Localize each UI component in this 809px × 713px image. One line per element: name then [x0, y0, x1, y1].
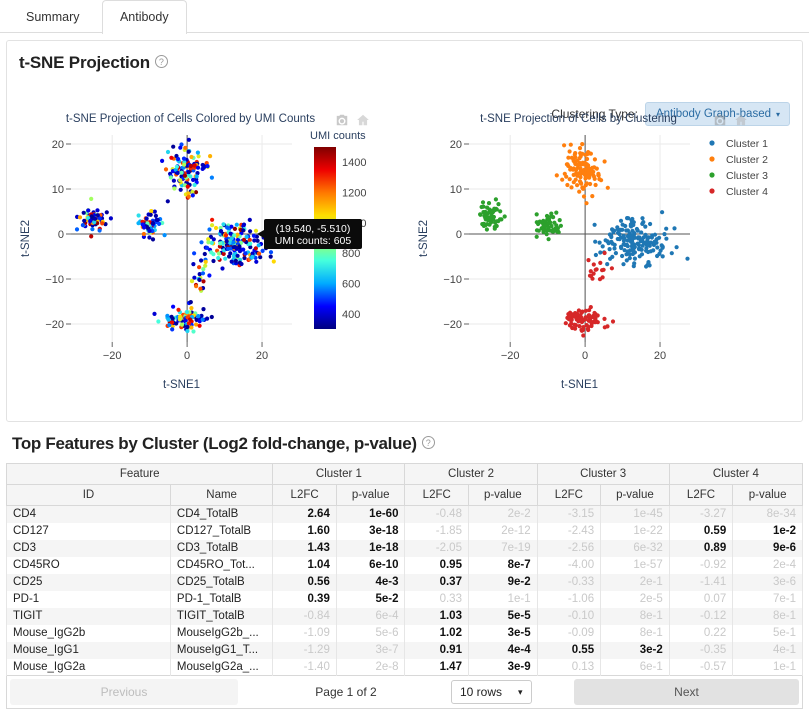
cell-id: Mouse_IgG2a [7, 659, 171, 676]
table-row: Mouse_IgG2aMouseIgG2a_...-1.402e-81.473e… [7, 659, 803, 676]
cell-c1-l2fc: -1.29 [273, 642, 337, 659]
cell-c4-l2fc: -0.35 [669, 642, 733, 659]
cell-c2-l2fc: 0.33 [405, 591, 469, 608]
rows-per-page-value: 10 rows [460, 685, 502, 699]
cell-c3-l2fc: 0.13 [537, 659, 601, 676]
cell-name: PD-1_TotalB [170, 591, 272, 608]
svg-text:20: 20 [450, 139, 462, 151]
cell-c1-pvalue: 1e-18 [336, 540, 405, 557]
help-circle-icon[interactable]: ? [155, 55, 168, 68]
cell-c3-l2fc: -4.00 [537, 557, 601, 574]
cell-id: CD25 [7, 574, 171, 591]
svg-text:t-SNE1: t-SNE1 [561, 379, 598, 391]
svg-text:0: 0 [582, 350, 588, 362]
cell-c1-pvalue: 3e-7 [336, 642, 405, 659]
svg-text:1200: 1200 [342, 188, 366, 200]
legend-marker [709, 188, 714, 193]
cell-c2-pvalue: 2e-12 [468, 523, 537, 540]
cell-c4-pvalue: 7e-1 [733, 591, 803, 608]
cell-c1-l2fc: 2.64 [273, 506, 337, 523]
tsne-umi-plot[interactable]: t-SNE Projection of Cells Colored by UMI… [13, 107, 408, 402]
table-row: TIGITTIGIT_TotalB-0.846e-41.035e-5-0.108… [7, 608, 803, 625]
cell-c4-pvalue: 3e-6 [733, 574, 803, 591]
cell-c4-l2fc: -0.12 [669, 608, 733, 625]
cell-c2-pvalue: 7e-19 [468, 540, 537, 557]
cell-c3-pvalue: 1e-45 [601, 506, 670, 523]
cell-c3-l2fc: -0.09 [537, 625, 601, 642]
cell-c2-pvalue: 9e-2 [468, 574, 537, 591]
table-row: Mouse_IgG2bMouseIgG2b_...-1.095e-61.023e… [7, 625, 803, 642]
svg-text:UMI counts: 605: UMI counts: 605 [275, 235, 352, 247]
svg-text:(19.540, -5.510): (19.540, -5.510) [276, 223, 351, 235]
cell-c4-pvalue: 1e-2 [733, 523, 803, 540]
cell-c1-l2fc: 0.39 [273, 591, 337, 608]
cell-c1-pvalue: 6e-4 [336, 608, 405, 625]
col-header-c4-pvalue[interactable]: p-value [733, 485, 803, 506]
cell-c1-l2fc: -0.84 [273, 608, 337, 625]
cell-c3-pvalue: 1e-57 [601, 557, 670, 574]
tab-antibody[interactable]: Antibody [102, 0, 187, 34]
tab-bar: Summary Antibody [0, 0, 809, 33]
cell-c1-pvalue: 1e-60 [336, 506, 405, 523]
cell-id: TIGIT [7, 608, 171, 625]
table-pager: Previous Page 1 of 2 10 rows ▾ Next [6, 676, 803, 709]
top-features-table: Feature Cluster 1 Cluster 2 Cluster 3 Cl… [6, 463, 803, 676]
cell-c4-l2fc: 0.89 [669, 540, 733, 557]
rows-per-page-select[interactable]: 10 rows ▾ [451, 680, 532, 704]
group-header-cluster-3: Cluster 3 [537, 464, 669, 485]
cell-c1-pvalue: 3e-18 [336, 523, 405, 540]
help-circle-icon[interactable]: ? [422, 436, 435, 449]
legend-marker [709, 172, 714, 177]
tsne-title-row: t-SNE Projection? [7, 41, 802, 73]
table-sub-header-row: ID Name L2FC p-value L2FC p-value L2FC p… [7, 485, 803, 506]
col-header-c2-l2fc[interactable]: L2FC [405, 485, 469, 506]
cell-c3-pvalue: 2e-5 [601, 591, 670, 608]
point-tooltip: (19.540, -5.510)UMI counts: 605 [257, 219, 362, 249]
table-body: CD4CD4_TotalB2.641e-60-0.482e-2-3.151e-4… [7, 506, 803, 676]
cell-c4-l2fc: 0.07 [669, 591, 733, 608]
tsne-card: t-SNE Projection? Clustering Type: Antib… [6, 40, 803, 422]
svg-text:10: 10 [450, 184, 462, 196]
cell-c4-l2fc: 0.59 [669, 523, 733, 540]
cell-name: CD127_TotalB [170, 523, 272, 540]
svg-text:400: 400 [342, 309, 360, 321]
cell-c4-l2fc: -0.57 [669, 659, 733, 676]
cell-c1-l2fc: 1.43 [273, 540, 337, 557]
tsne-cluster-plot[interactable]: t-SNE Projection of Cells by Clustering … [411, 107, 806, 402]
svg-text:−20: −20 [443, 319, 462, 331]
top-features-section: Top Features by Cluster (Log2 fold-chang… [6, 432, 803, 709]
svg-text:20: 20 [52, 139, 64, 151]
cell-c3-pvalue: 6e-32 [601, 540, 670, 557]
cell-id: Mouse_IgG1 [7, 642, 171, 659]
cell-c2-pvalue: 5e-5 [468, 608, 537, 625]
cell-c3-pvalue: 6e-1 [601, 659, 670, 676]
table-row: Mouse_IgG1MouseIgG1_T...-1.293e-70.914e-… [7, 642, 803, 659]
cell-c2-pvalue: 3e-9 [468, 659, 537, 676]
legend-label: Cluster 3 [726, 170, 768, 182]
cell-name: CD25_TotalB [170, 574, 272, 591]
top-features-title: Top Features by Cluster (Log2 fold-chang… [6, 432, 417, 463]
cell-c3-l2fc: -2.56 [537, 540, 601, 557]
cell-c1-pvalue: 4e-3 [336, 574, 405, 591]
col-header-c2-pvalue[interactable]: p-value [468, 485, 537, 506]
chevron-down-icon: ▾ [518, 687, 523, 698]
svg-text:−20: −20 [501, 350, 520, 362]
cell-id: CD45RO [7, 557, 171, 574]
cell-c2-pvalue: 3e-5 [468, 625, 537, 642]
svg-text:20: 20 [654, 350, 666, 362]
cell-c4-pvalue: 5e-1 [733, 625, 803, 642]
col-header-c1-pvalue[interactable]: p-value [336, 485, 405, 506]
cell-c3-pvalue: 8e-1 [601, 625, 670, 642]
cell-id: CD3 [7, 540, 171, 557]
svg-text:−20: −20 [103, 350, 122, 362]
cell-c3-l2fc: -1.06 [537, 591, 601, 608]
table-row: CD3CD3_TotalB1.431e-18-2.057e-19-2.566e-… [7, 540, 803, 557]
legend-marker [709, 140, 714, 145]
cell-c2-l2fc: -0.48 [405, 506, 469, 523]
svg-text:−20: −20 [45, 319, 64, 331]
cell-id: Mouse_IgG2b [7, 625, 171, 642]
svg-text:1400: 1400 [342, 157, 366, 169]
svg-text:600: 600 [342, 279, 360, 291]
cell-c3-pvalue: 3e-2 [601, 642, 670, 659]
cell-c1-l2fc: 1.60 [273, 523, 337, 540]
svg-text:0: 0 [58, 229, 64, 241]
legend-label: Cluster 1 [726, 138, 768, 150]
cell-name: MouseIgG2b_... [170, 625, 272, 642]
cell-c4-l2fc: -0.92 [669, 557, 733, 574]
legend-marker [709, 156, 714, 161]
legend-label: Cluster 2 [726, 154, 768, 166]
cell-c1-pvalue: 2e-8 [336, 659, 405, 676]
group-header-feature: Feature [7, 464, 273, 485]
svg-text:−10: −10 [45, 274, 64, 286]
next-page-button[interactable]: Next [574, 679, 799, 705]
cell-c4-pvalue: 9e-6 [733, 540, 803, 557]
col-header-c3-pvalue[interactable]: p-value [601, 485, 670, 506]
cell-c1-l2fc: -1.09 [273, 625, 337, 642]
cell-c2-l2fc: 1.02 [405, 625, 469, 642]
table-row: CD25CD25_TotalB0.564e-30.379e-2-0.332e-1… [7, 574, 803, 591]
cell-c2-l2fc: 0.37 [405, 574, 469, 591]
cell-name: MouseIgG1_T... [170, 642, 272, 659]
table-row: CD45ROCD45RO_Tot...1.046e-100.958e-7-4.0… [7, 557, 803, 574]
cell-c4-l2fc: 0.22 [669, 625, 733, 642]
cell-c2-l2fc: 0.91 [405, 642, 469, 659]
col-header-c1-l2fc[interactable]: L2FC [273, 485, 337, 506]
cell-name: CD45RO_Tot... [170, 557, 272, 574]
cell-c3-l2fc: -3.15 [537, 506, 601, 523]
cell-c4-pvalue: 8e-1 [733, 608, 803, 625]
col-header-name[interactable]: Name [170, 485, 272, 506]
svg-text:0: 0 [184, 350, 190, 362]
cell-c3-l2fc: -0.10 [537, 608, 601, 625]
cell-c1-l2fc: 1.04 [273, 557, 337, 574]
cell-c3-pvalue: 2e-1 [601, 574, 670, 591]
cell-c3-l2fc: -2.43 [537, 523, 601, 540]
cell-c4-l2fc: -3.27 [669, 506, 733, 523]
tab-summary[interactable]: Summary [8, 0, 97, 33]
svg-text:10: 10 [52, 184, 64, 196]
cell-c1-pvalue: 5e-6 [336, 625, 405, 642]
group-header-cluster-4: Cluster 4 [669, 464, 802, 485]
cell-id: CD4 [7, 506, 171, 523]
cell-c3-l2fc: -0.33 [537, 574, 601, 591]
cell-name: CD3_TotalB [170, 540, 272, 557]
cell-c2-pvalue: 2e-2 [468, 506, 537, 523]
col-header-id[interactable]: ID [7, 485, 171, 506]
table-row: PD-1PD-1_TotalB0.395e-20.331e-1-1.062e-5… [7, 591, 803, 608]
cell-c2-pvalue: 1e-1 [468, 591, 537, 608]
svg-text:800: 800 [342, 248, 360, 260]
group-header-cluster-2: Cluster 2 [405, 464, 537, 485]
col-header-c3-l2fc[interactable]: L2FC [537, 485, 601, 506]
cell-c4-pvalue: 4e-1 [733, 642, 803, 659]
cell-c1-l2fc: -1.40 [273, 659, 337, 676]
svg-text:20: 20 [256, 350, 268, 362]
cell-c2-l2fc: -2.05 [405, 540, 469, 557]
svg-text:t-SNE2: t-SNE2 [20, 220, 32, 257]
cell-c2-pvalue: 4e-4 [468, 642, 537, 659]
group-header-cluster-1: Cluster 1 [273, 464, 405, 485]
cell-name: MouseIgG2a_... [170, 659, 272, 676]
col-header-c4-l2fc[interactable]: L2FC [669, 485, 733, 506]
cell-c3-l2fc: 0.55 [537, 642, 601, 659]
cell-c4-pvalue: 1e-1 [733, 659, 803, 676]
cell-c3-pvalue: 1e-22 [601, 523, 670, 540]
table-group-header-row: Feature Cluster 1 Cluster 2 Cluster 3 Cl… [7, 464, 803, 485]
cell-c2-l2fc: 1.03 [405, 608, 469, 625]
plots-container: t-SNE Projection of Cells Colored by UMI… [7, 107, 802, 402]
cell-name: CD4_TotalB [170, 506, 272, 523]
table-row: CD127CD127_TotalB1.603e-18-1.852e-12-2.4… [7, 523, 803, 540]
page-indicator: Page 1 of 2 [241, 685, 451, 699]
svg-text:t-SNE1: t-SNE1 [163, 379, 200, 391]
cell-c2-l2fc: -1.85 [405, 523, 469, 540]
page-title: t-SNE Projection [7, 41, 150, 73]
cell-c3-pvalue: 8e-1 [601, 608, 670, 625]
table-row: CD4CD4_TotalB2.641e-60-0.482e-2-3.151e-4… [7, 506, 803, 523]
cell-c4-l2fc: -1.41 [669, 574, 733, 591]
cell-c1-pvalue: 6e-10 [336, 557, 405, 574]
previous-page-button[interactable]: Previous [10, 679, 238, 705]
cell-c1-pvalue: 5e-2 [336, 591, 405, 608]
svg-text:−10: −10 [443, 274, 462, 286]
cell-c1-l2fc: 0.56 [273, 574, 337, 591]
svg-text:0: 0 [456, 229, 462, 241]
svg-text:t-SNE2: t-SNE2 [418, 220, 430, 257]
svg-text:UMI counts: UMI counts [310, 130, 366, 142]
cell-c2-l2fc: 1.47 [405, 659, 469, 676]
cell-c4-pvalue: 2e-4 [733, 557, 803, 574]
cell-c2-l2fc: 0.95 [405, 557, 469, 574]
legend-label: Cluster 4 [726, 186, 768, 198]
cell-id: PD-1 [7, 591, 171, 608]
cell-c4-pvalue: 8e-34 [733, 506, 803, 523]
cell-c2-pvalue: 8e-7 [468, 557, 537, 574]
cell-id: CD127 [7, 523, 171, 540]
cell-name: TIGIT_TotalB [170, 608, 272, 625]
